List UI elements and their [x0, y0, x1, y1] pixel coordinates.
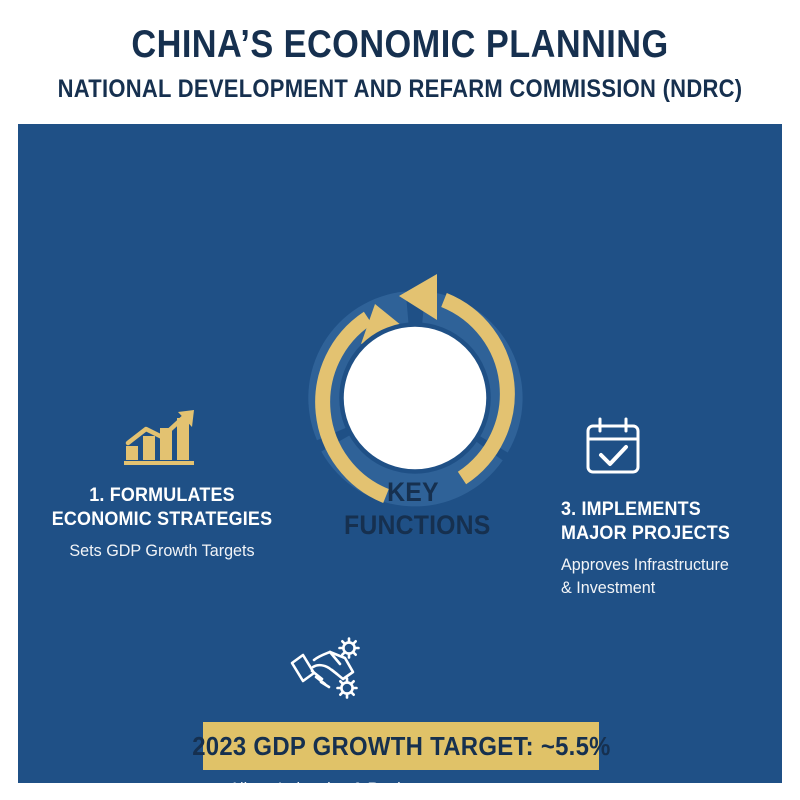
calendar-check-icon — [582, 416, 782, 483]
function-item-3-subtitle-line1: Approves Infrastructure — [561, 553, 774, 576]
key-functions-cycle-graphic — [291, 274, 539, 522]
page-title: CHINA’S ECONOMIC PLANNING — [48, 22, 752, 68]
function-item-3-title-line1: 3. IMPLEMENTS — [561, 497, 767, 521]
handshake-gears-icon — [193, 636, 463, 707]
header: CHINA’S ECONOMIC PLANNING NATIONAL DEVEL… — [0, 0, 800, 124]
function-item-1[interactable]: 1. FORMULATES ECONOMIC STRATEGIES Sets G… — [38, 410, 286, 562]
function-item-2-subtitle: Aligns Industries & Regions — [200, 777, 457, 783]
function-item-3-title-line2: MAJOR PROJECTS — [561, 521, 767, 545]
bar-chart-growth-icon — [38, 410, 286, 471]
infographic-root: CHINA’S ECONOMIC PLANNING NATIONAL DEVEL… — [0, 0, 800, 800]
main-panel: KEY FUNCTIONS 1. FORMU — [18, 124, 782, 783]
function-item-1-subtitle: Sets GDP Growth Targets — [44, 539, 280, 562]
function-item-3-title: 3. IMPLEMENTS MAJOR PROJECTS — [561, 497, 767, 545]
function-item-3[interactable]: 3. IMPLEMENTS MAJOR PROJECTS Approves In… — [545, 416, 782, 599]
center-disc — [345, 328, 485, 468]
function-item-1-title: 1. FORMULATES ECONOMIC STRATEGIES — [48, 483, 276, 531]
gdp-target-banner: 2023 GDP GROWTH TARGET: ~5.5% — [203, 722, 599, 770]
function-item-1-title-line1: 1. FORMULATES — [48, 483, 276, 507]
page-subtitle: NATIONAL DEVELOPMENT AND REFARM COMMISSI… — [48, 74, 752, 104]
function-item-3-subtitle: Approves Infrastructure & Investment — [561, 553, 774, 599]
function-item-1-title-line2: ECONOMIC STRATEGIES — [48, 507, 276, 531]
gdp-target-banner-text: 2023 GDP GROWTH TARGET: ~5.5% — [192, 731, 611, 761]
function-item-3-subtitle-line2: & Investment — [561, 576, 774, 599]
